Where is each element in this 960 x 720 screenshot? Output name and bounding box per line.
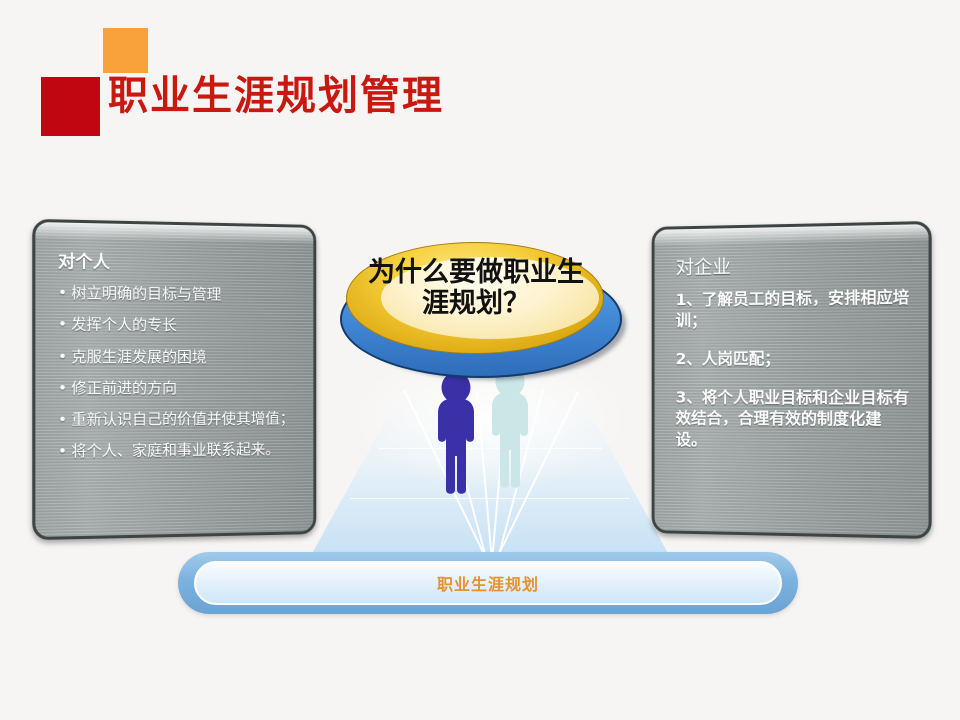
- bottom-banner-inner: 职业生涯规划: [194, 561, 782, 605]
- orange-square-icon: [103, 28, 148, 73]
- panel-individual: 对个人 树立明确的目标与管理 发挥个人的专长 克服生涯发展的困境 修正前进的方向…: [32, 219, 316, 540]
- panel-enterprise-heading: 对企业: [676, 249, 912, 280]
- slide-canvas: 职业生涯规划管理: [0, 0, 960, 720]
- person-dark-icon: [428, 372, 484, 494]
- enterprise-benefits-list: 1、了解员工的目标，安排相应培训； 2、人岗匹配； 3、将个人职业目标和企业目标…: [676, 286, 912, 451]
- list-item: 1、了解员工的目标，安排相应培训；: [676, 286, 912, 331]
- list-item: 树立明确的目标与管理: [58, 282, 298, 306]
- page-title: 职业生涯规划管理: [108, 73, 444, 119]
- list-item: 修正前进的方向: [58, 378, 298, 400]
- floor-line: [350, 498, 630, 499]
- bottom-banner: 职业生涯规划: [178, 552, 798, 614]
- center-question-text: 为什么要做职业生涯规划？: [360, 258, 592, 320]
- list-item: 3、将个人职业目标和企业目标有效结合，合理有效的制度化建设。: [676, 387, 912, 452]
- red-square-icon: [41, 77, 100, 136]
- bottom-banner-label: 职业生涯规划: [437, 571, 539, 595]
- center-question-button[interactable]: 为什么要做职业生涯规划？: [332, 238, 632, 388]
- panel-enterprise: 对企业 1、了解员工的目标，安排相应培训； 2、人岗匹配； 3、将个人职业目标和…: [652, 221, 932, 539]
- list-item: 重新认识自己的价值并使其增值；: [58, 409, 298, 432]
- individual-benefits-list: 树立明确的目标与管理 发挥个人的专长 克服生涯发展的困境 修正前进的方向 重新认…: [58, 282, 298, 463]
- panel-individual-heading: 对个人: [58, 247, 298, 276]
- list-item: 发挥个人的专长: [58, 314, 298, 337]
- list-item: 克服生涯发展的困境: [58, 346, 298, 368]
- list-item: 将个人、家庭和事业联系起来。: [58, 439, 298, 463]
- list-item: 2、人岗匹配；: [676, 348, 912, 370]
